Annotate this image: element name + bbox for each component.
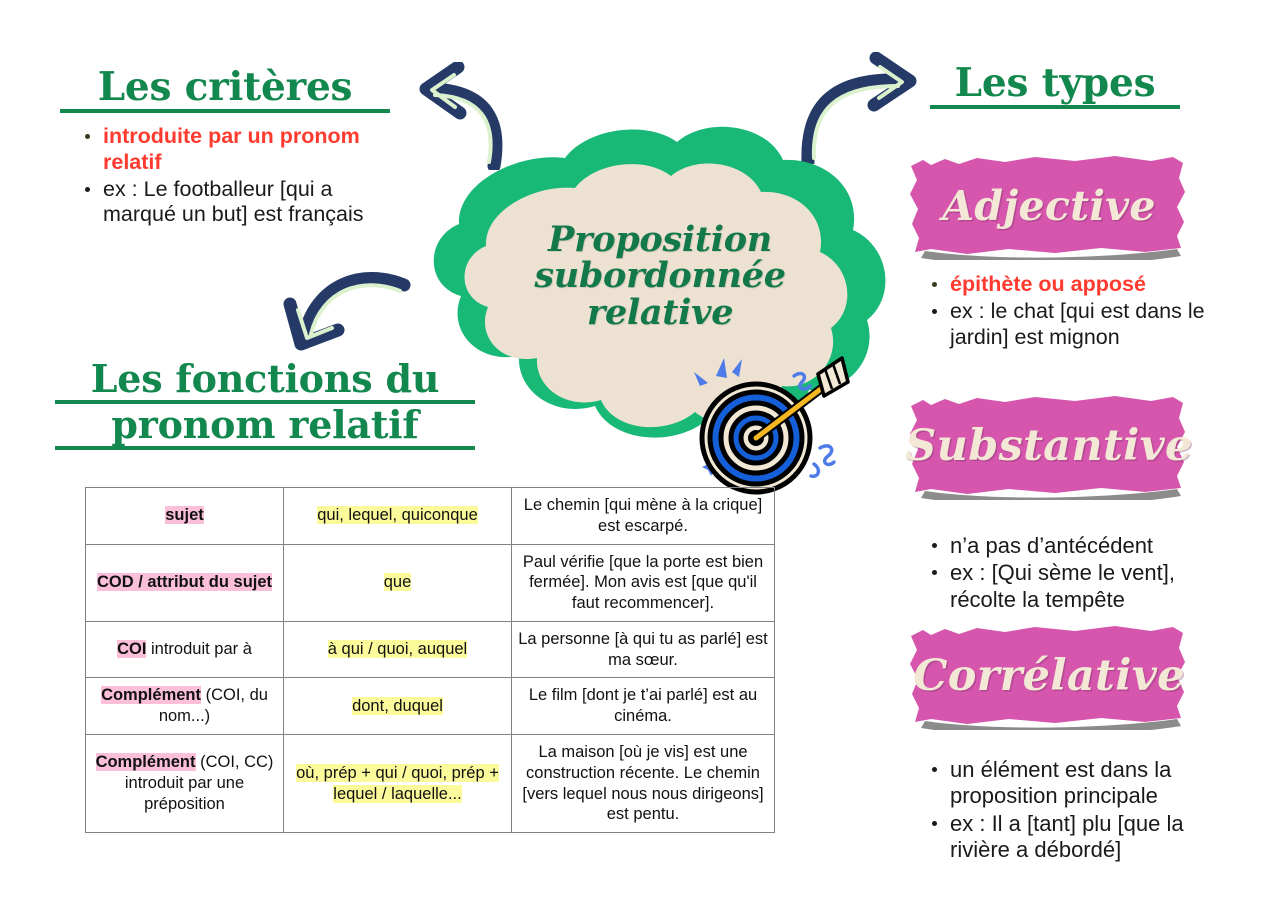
pronoms-highlight: dont, duquel [352,697,443,715]
fonction-highlight: Complément [101,686,201,704]
infographic-canvas: Les critères introduite par un pronom re… [0,0,1280,906]
list-item: ex : Le footballeur [qui a marqué un but… [78,177,398,229]
list-item: un élément est dans la proposition princ… [925,757,1215,810]
list-item: ex : le chat [qui est dans le jardin] es… [925,299,1215,351]
substantive-bullet-list: n’a pas d’antécédent ex : [Qui sème le v… [925,533,1215,614]
type-card-correlative-label: Corrélative [905,642,1193,710]
cell-fonction: Complément (COI, CC) introduit par une p… [86,735,284,833]
type-card-correlative: Corrélative [905,622,1193,730]
table-row: Complément (COI, CC) introduit par une p… [86,735,775,833]
list-item: n’a pas d’antécédent [925,533,1215,559]
heading-les-fonctions: Les fonctions du pronom relatif [55,358,475,450]
pronom-relatif-table-wrapper: sujet qui, lequel, quiconque Le chemin [… [85,487,735,833]
list-item: ex : Il a [tant] plu [que la rivière a d… [925,811,1215,864]
heading-les-fonctions-line-2: pronom relatif [55,404,475,450]
correlative-bullet-list: un élément est dans la proposition princ… [925,757,1215,865]
pronoms-highlight: où, prép + qui / quoi, prép + lequel / l… [296,764,499,803]
fonction-highlight: sujet [165,506,204,524]
cell-pronoms: où, prép + qui / quoi, prép + lequel / l… [284,735,512,833]
cell-pronoms: qui, lequel, quiconque [284,488,512,545]
cell-exemple: Le chemin [qui mène à la crique] est esc… [512,488,775,545]
type-card-adjective-label: Adjective [905,172,1193,240]
table-row: COD / attribut du sujet que Paul vérifie… [86,544,775,621]
cell-exemple: La personne [à qui tu as parlé] est ma s… [512,621,775,678]
heading-les-types: Les types [930,62,1180,109]
heading-les-criteres: Les critères [60,66,390,113]
cell-pronoms: dont, duquel [284,678,512,735]
cell-exemple: Paul vérifie [que la porte est bien ferm… [512,544,775,621]
cell-pronoms: à qui / quoi, auquel [284,621,512,678]
criteres-bullet-list: introduite par un pronom relatif ex : Le… [78,124,398,229]
fonction-highlight: COD / attribut du sujet [97,573,272,591]
adjective-bullet-list: épithète ou apposé ex : le chat [qui est… [925,272,1215,351]
list-item: ex : [Qui sème le vent], récolte la temp… [925,560,1215,613]
type-card-substantive: Substantive [905,392,1193,500]
pronoms-highlight: qui, lequel, quiconque [317,506,478,524]
fonction-rest: introduit par à [146,640,251,658]
table-row: Complément (COI, du nom...) dont, duquel… [86,678,775,735]
pronoms-highlight: à qui / quoi, auquel [328,640,467,658]
list-item: épithète ou apposé [925,272,1215,298]
table-row: COI introduit par à à qui / quoi, auquel… [86,621,775,678]
heading-les-fonctions-line-1: Les fonctions du [55,358,475,404]
cell-fonction: COI introduit par à [86,621,284,678]
type-card-substantive-label: Substantive [905,412,1193,480]
cell-pronoms: que [284,544,512,621]
list-item: introduite par un pronom relatif [78,124,398,176]
cell-fonction: Complément (COI, du nom...) [86,678,284,735]
fonction-highlight: Complément [96,753,196,771]
heading-les-criteres-text: Les critères [60,66,390,113]
cell-exemple: Le film [dont je t’ai parlé] est au ciné… [512,678,775,735]
heading-les-types-text: Les types [930,62,1180,109]
pronom-relatif-table: sujet qui, lequel, quiconque Le chemin [… [85,487,775,833]
pronoms-highlight: que [384,573,412,591]
fonction-highlight: COI [117,640,146,658]
cell-exemple: La maison [où je vis] est une constructi… [512,735,775,833]
cell-fonction: COD / attribut du sujet [86,544,284,621]
cell-fonction: sujet [86,488,284,545]
target-dartboard-icon [672,352,852,500]
type-card-adjective: Adjective [905,152,1193,260]
table-row: sujet qui, lequel, quiconque Le chemin [… [86,488,775,545]
